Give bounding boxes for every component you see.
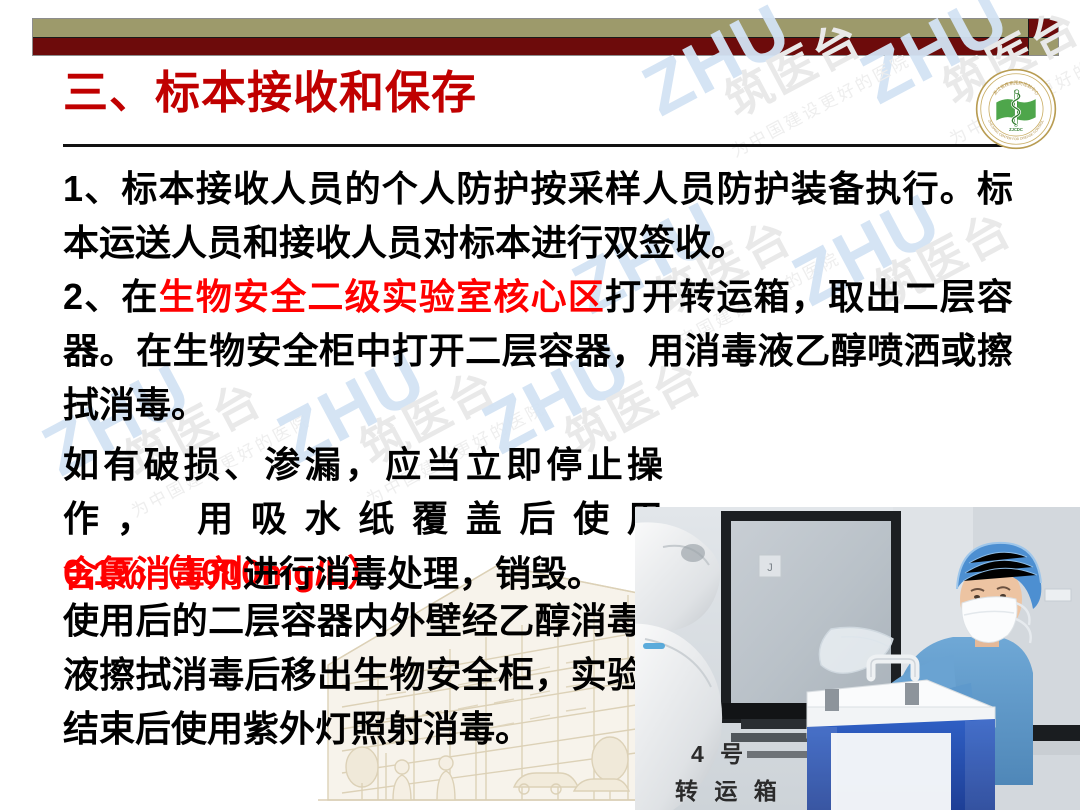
transport-box-label-line1: 4 号	[691, 735, 748, 769]
paragraph-1: 1、标本接收人员的个人防护按采样人员防护装备执行。标本运送人员和接收人员对标本进…	[63, 162, 1013, 270]
cdc-logo-icon: 浙江省疾病预防控制中心 ZHEJIANG CENTER FOR DISEASE …	[975, 68, 1057, 150]
header-bar-row-top	[33, 19, 1058, 38]
header-bar-segment-khaki-short	[1028, 38, 1058, 56]
paragraph-2-text-pre: 在	[121, 277, 158, 317]
lab-photo: J	[635, 507, 1080, 810]
svg-text:J: J	[767, 562, 773, 574]
header-bar-segment-red-long	[33, 38, 1028, 56]
header-decorative-bar	[32, 18, 1059, 56]
header-bar-segment-khaki-long	[33, 19, 1028, 37]
paragraph-4-highlight: 含氯消毒剂	[63, 554, 243, 594]
paragraph-2-number: 2、	[63, 276, 121, 317]
svg-text:ZJCDC: ZJCDC	[1009, 127, 1023, 132]
paragraph-1-number: 1、	[63, 168, 121, 209]
page-title: 三、标本接收和保存	[63, 68, 477, 118]
paragraph-3-text-pre: 如有破损、渗漏，应当立即停止操作， 用吸水纸覆盖后使用	[63, 445, 663, 539]
header-bar-segment-red-short	[1028, 19, 1058, 37]
paragraph-1-text: 标本接收人员的个人防护按采样人员防护装备执行。标本运送人员和接收人员对标本进行双…	[63, 169, 1013, 263]
slide-canvas: ZHU 筑医台 为中国建设更好的医院 ZHU 筑医台 为中国建设更好的医院 ZH…	[0, 0, 1080, 810]
header-bar-row-bottom	[33, 38, 1058, 56]
paragraph-2: 2、在生物安全二级实验室核心区打开转运箱，取出二层容器。在生物安全柜中打开二层容…	[63, 270, 1013, 432]
transport-box-label-line2: 转 运 箱	[675, 772, 782, 806]
paragraph-4: 含氯消毒剂进行消毒处理，销毁。	[63, 547, 643, 601]
paragraph-2-highlight: 生物安全二级实验室核心区	[159, 277, 605, 317]
paragraph-5: 使用后的二层容器内外壁经乙醇消毒液擦拭消毒后移出生物安全柜，实验结束后使用紫外灯…	[63, 594, 643, 756]
paragraph-4-text-post: 进行消毒处理，销毁。	[243, 554, 603, 594]
title-underline-rule	[63, 144, 1007, 147]
